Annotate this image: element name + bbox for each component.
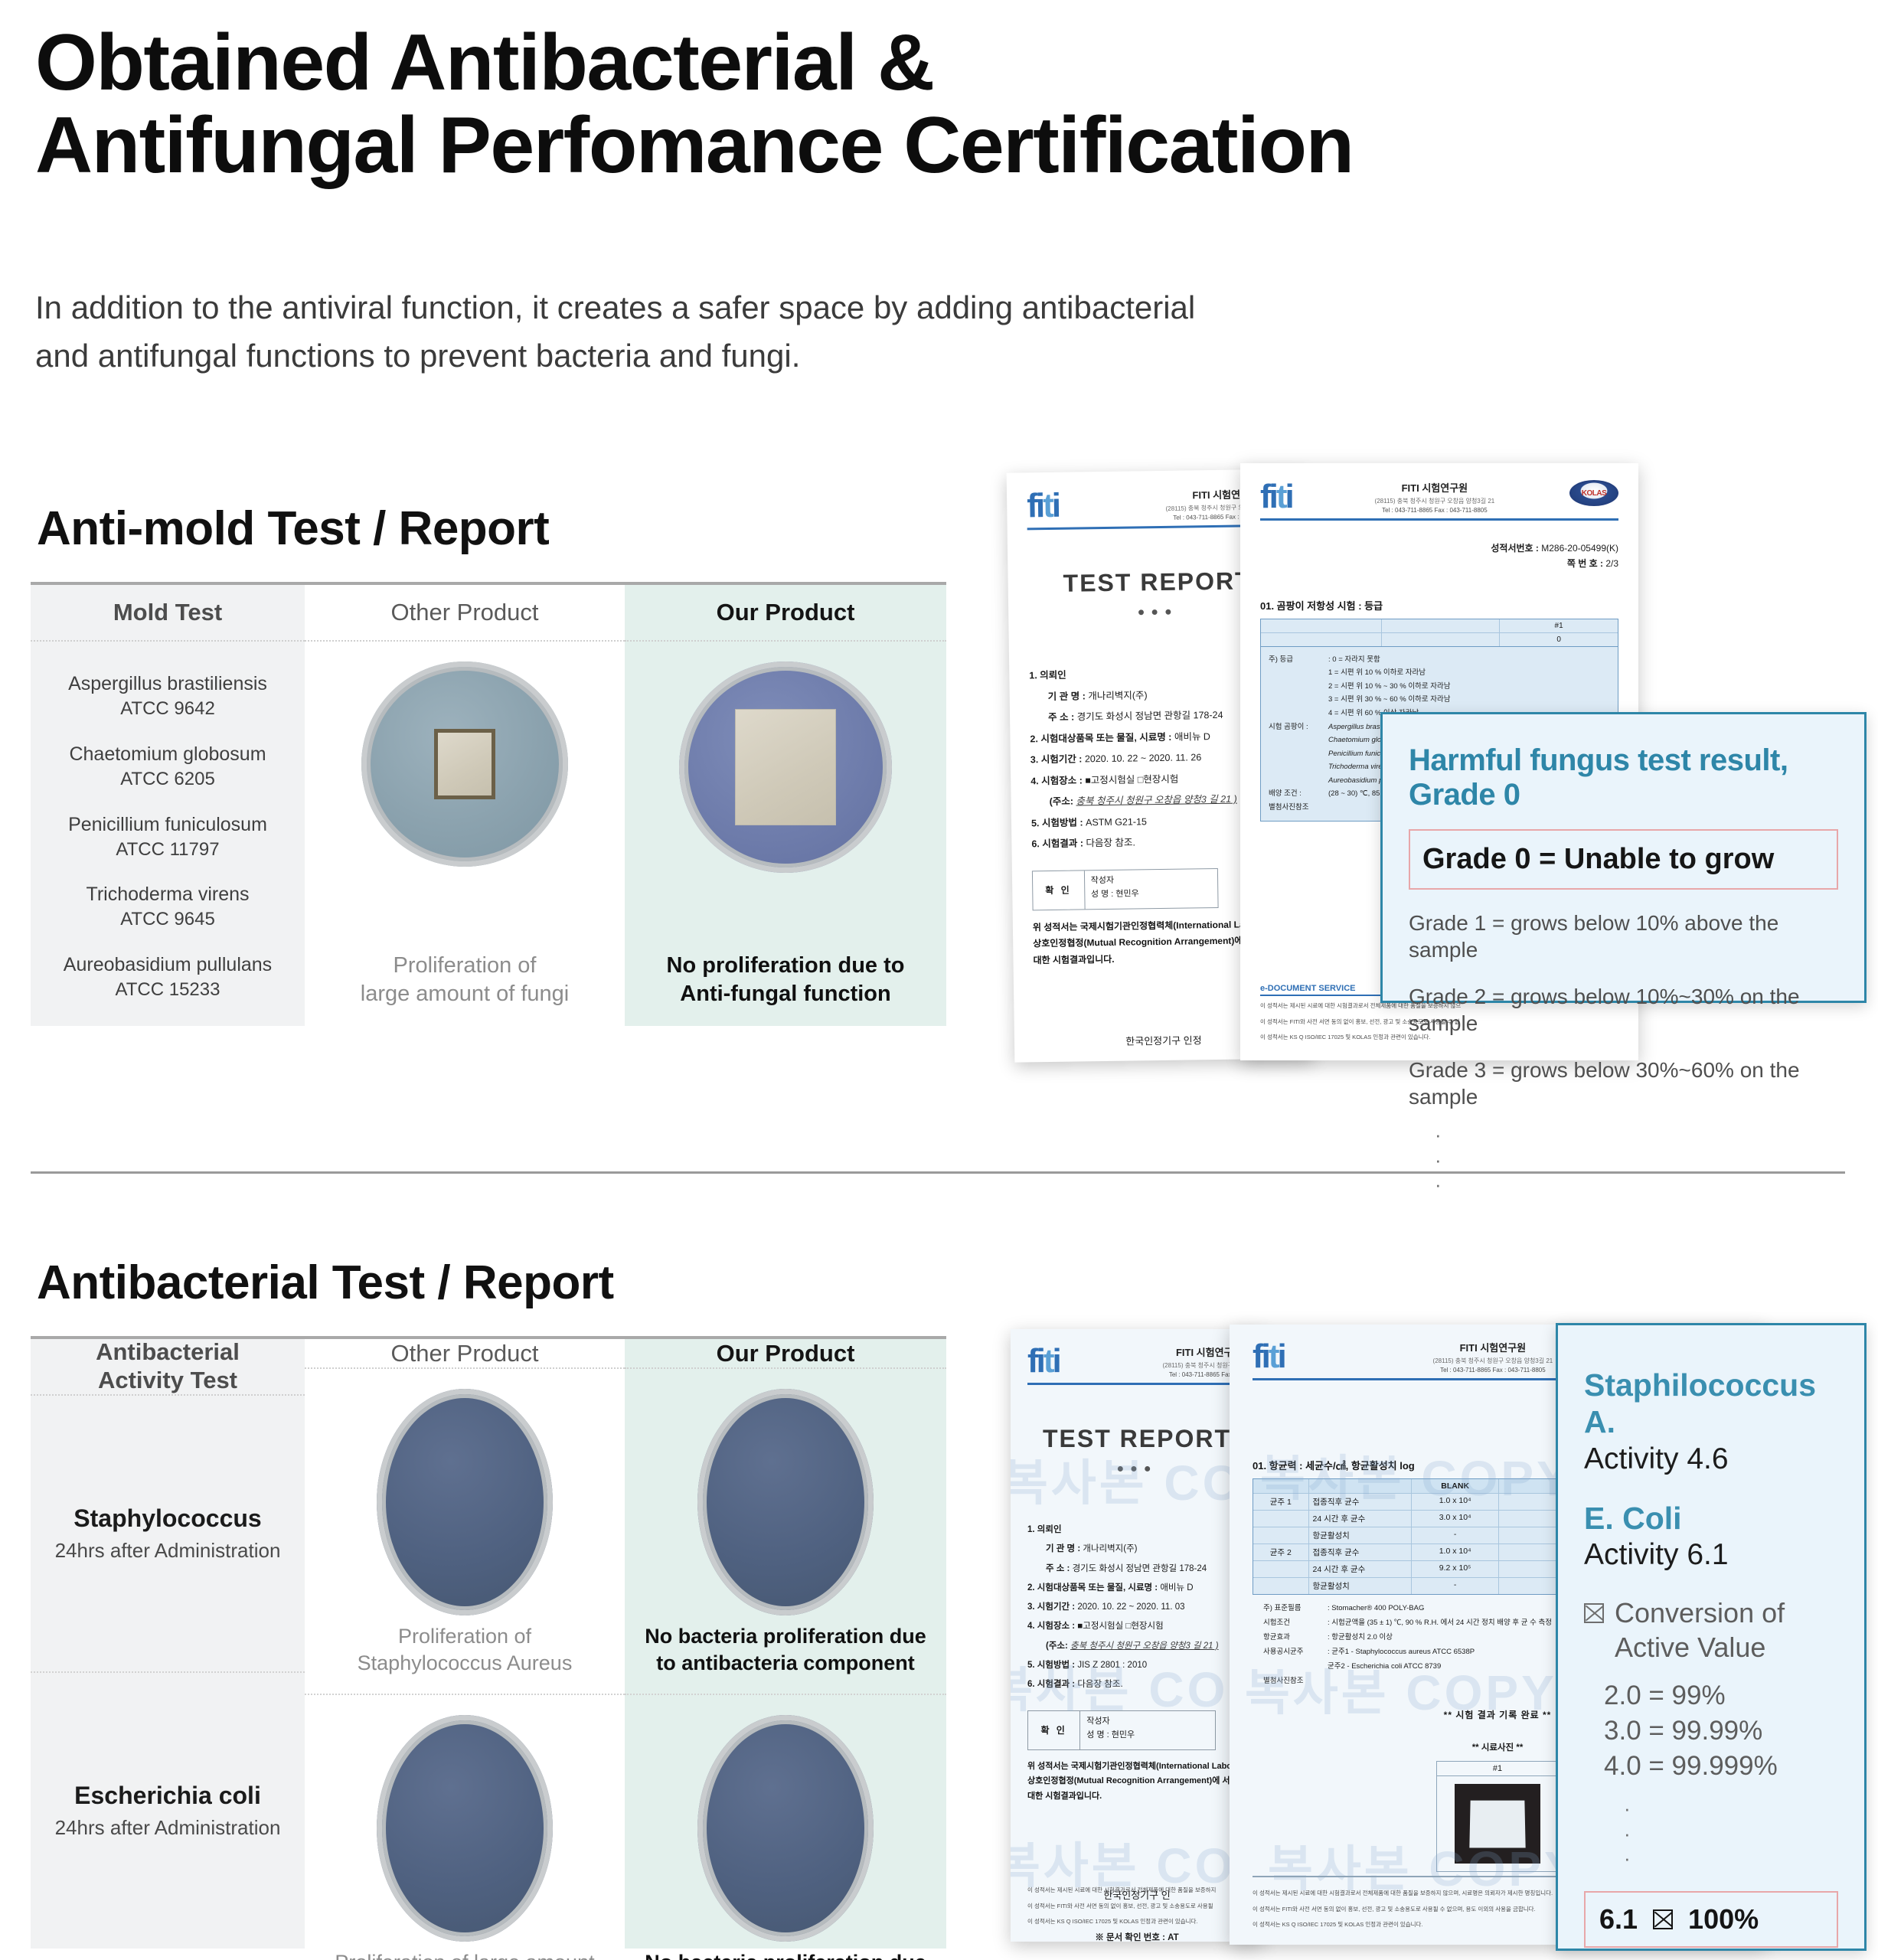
sample-photo-id: #1: [1437, 1762, 1558, 1776]
field-value: ■고정시험실 □현장시험: [1077, 1622, 1163, 1631]
serial-value: M286-20-05499(K): [1541, 543, 1618, 554]
bact-ours-ecoli-cell: No bacteria proliferation due to antibac…: [625, 1694, 946, 1960]
fiti-logo-icon: fiti: [1027, 1344, 1060, 1378]
bact-row-ecoli-label: Escherichia coli 24hrs after Administrat…: [31, 1671, 305, 1949]
bact-ours-staph-caption: No bacteria proliferation due to antibac…: [645, 1615, 926, 1677]
table-cell: 24 시간 후 균수: [1309, 1561, 1413, 1577]
sample-swatch: [434, 729, 495, 799]
species-atcc: ATCC 15233: [64, 978, 272, 1002]
bact-table-ours-column: Our Product No bacteria proliferation du…: [625, 1339, 946, 1949]
species-name: Chaetomium globosum: [69, 743, 266, 765]
crossed-box-icon: [1584, 1603, 1604, 1623]
certificate-header: fiti FITI 시험연구 (28115) 충북 청주시 청원구 오창 Tel…: [1027, 1344, 1246, 1378]
caption-line-2: Anti-fungal function: [667, 980, 905, 1009]
field-value: 다음장 참조.: [1086, 837, 1135, 848]
field-label: 5. 시험방법 :: [1027, 1661, 1075, 1670]
note-label: 항균효과: [1263, 1630, 1328, 1645]
table-cell: 접종직후 균수: [1309, 1494, 1413, 1510]
petri-dish-image-other-ecoli: [377, 1715, 553, 1942]
table-header-cell: [1309, 1479, 1413, 1493]
petri-dish-image-other-mold: [361, 661, 568, 867]
field-value: 개나리벽지(주): [1083, 1544, 1137, 1553]
grade-line: Grade 1 = grows below 10% above the samp…: [1409, 910, 1838, 963]
watermark-text: 복사본 COPY: [1011, 1444, 1263, 1514]
eds-line: 이 성적서는 FITI와 사전 서면 동의 없이 홍보, 선전, 광고 및 소송…: [1027, 1900, 1246, 1913]
table-cell: 접종직후 균수: [1309, 1544, 1413, 1560]
section-heading-anti-mold: Anti-mold Test / Report: [37, 501, 549, 556]
organism-name: Escherichia coli: [74, 1782, 261, 1810]
table-cell: [1261, 619, 1382, 632]
petri-dish-image-other-staph: [377, 1389, 553, 1615]
table-cell: [1382, 619, 1500, 632]
note-value: : 항균활성치 2.0 이상: [1328, 1633, 1393, 1641]
field-value: 경기도 화성시 정남면 관항길 178-24: [1077, 710, 1223, 723]
ellipsis-dot: ·: [1624, 1796, 1838, 1821]
mold-comparison-table: Mold Test Aspergillus brastiliensis ATCC…: [31, 582, 946, 1026]
sample-photo-frame: #1: [1436, 1761, 1559, 1872]
note-line: 1 = 시편 위 10 % 이하로 자라남: [1328, 668, 1426, 677]
table-cell: [1253, 1578, 1309, 1594]
lab-address: (28115) 충북 청주시 청원구 오창읍 양청3길 21: [1433, 1357, 1553, 1365]
species-name: Penicillium funiculosum: [68, 814, 267, 835]
table-cell: 균주 2: [1253, 1544, 1309, 1560]
certificate-serial-block: 성적서번호 : M286-20-05499(K) 쪽 번 호 : 2/3: [1260, 541, 1618, 572]
signature-name: 성 명 : 현민우: [1091, 886, 1212, 902]
page-subtitle: In addition to the antiviral function, i…: [35, 283, 1566, 380]
conversion-value: 4.0 = 99.999%: [1604, 1749, 1838, 1784]
table-cell: [1253, 1527, 1309, 1543]
eds-line: 이 성적서는 제시된 시료에 대한 시험결과로서 전체제품에 대한 품질을 보증…: [1027, 1884, 1246, 1896]
signature-label: 확 인: [1028, 1711, 1080, 1749]
e-document-service-block: 이 성적서는 제시된 시료에 대한 시험결과로서 전체제품에 대한 품질을 보증…: [1027, 1880, 1246, 1928]
field-label: 6. 시험결과 :: [1027, 1680, 1075, 1689]
signature-role: 작성자: [1091, 872, 1212, 888]
field-label: 4. 시험장소 :: [1027, 1622, 1075, 1631]
mold-other-caption: Proliferation of large amount of fungi: [361, 944, 569, 1009]
poster-page: Obtained Antibacterial & Antifungal Perf…: [0, 0, 1878, 1960]
result-percentage: 100%: [1688, 1903, 1759, 1935]
caption-line-2: Staphylococcus Aureus: [358, 1650, 573, 1677]
field-label: 4. 시험장소 :: [1030, 775, 1083, 786]
field-label: 기 관 명 :: [1048, 691, 1086, 702]
species-atcc: ATCC 9642: [68, 697, 267, 721]
table-cell: 24 시간 후 균수: [1309, 1511, 1413, 1527]
dish-rim: [697, 1389, 874, 1615]
note-line: 별첨사진참조: [1269, 803, 1308, 812]
ellipsis-dot: ·: [1435, 1122, 1838, 1148]
note-label: 배양 조건 :: [1269, 787, 1328, 801]
mold-table-ours-column: Our Product No proliferation due to Anti…: [625, 585, 946, 1026]
field-label: (주소:: [1046, 1641, 1068, 1651]
table-cell: 1.0 x 10⁴: [1412, 1544, 1499, 1560]
grade-line: Grade 2 = grows below 10%~30% on the sam…: [1409, 983, 1838, 1037]
field-label: 2. 시험대상품목 또는 물질, 시료명 :: [1030, 731, 1171, 744]
caption-line-1: Proliferation of: [361, 952, 569, 981]
document-verify-number: ※ 문서 확인 번호 : AT: [1027, 1929, 1246, 1942]
page-subtitle-line1: In addition to the antiviral function, i…: [35, 283, 1566, 332]
title-dots-decoration: ●●●: [1027, 1462, 1246, 1476]
dish-rim: [377, 1715, 553, 1942]
lab-address: (28115) 충북 청주시 청원구 오창읍 양청3길 21: [1375, 497, 1495, 505]
field-value: ■고정시험실 □현장시험: [1085, 773, 1178, 786]
bact-certificate-page-1: 복사본 COPY 복사본 COPY 복사본 COPY fiti FITI 시험연…: [1011, 1329, 1263, 1942]
table-cell: 9.2 x 10⁵: [1412, 1561, 1499, 1577]
result-highlight-box: 6.1 100%: [1584, 1891, 1838, 1948]
conversion-value: 2.0 = 99%: [1604, 1678, 1838, 1713]
table-cell: [1253, 1561, 1309, 1577]
eds-line: 이 성적서는 KS Q ISO/IEC 17025 및 KOLAS 인정과 관련…: [1027, 1916, 1246, 1928]
note-label: 별첨사진참조: [1263, 1674, 1328, 1688]
conversion-heading: Conversion of Active Value: [1584, 1596, 1838, 1664]
bact-other-ecoli-caption: Proliferation of large amount Escherichi…: [335, 1942, 594, 1960]
table-cell: [1382, 633, 1500, 646]
bact-table-other-column: Other Product Proliferation of Staphyloc…: [305, 1339, 625, 1949]
note-value: : 균주1 - Staphylococcus aureus ATCC 6538P: [1328, 1648, 1475, 1656]
lab-contact-block: FITI 시험연구원 (28115) 충북 청주시 청원구 오창읍 양청3길 2…: [1433, 1340, 1553, 1374]
field-label: 3. 시험기간 :: [1027, 1602, 1075, 1612]
dish-rim: [697, 1715, 874, 1942]
callout-organism-1: Staphilococcus A.: [1584, 1367, 1838, 1441]
lab-name: FITI 시험연구원: [1433, 1340, 1553, 1354]
field-label: 3. 시험기간 :: [1030, 753, 1083, 765]
species-name: Trichoderma virens: [86, 884, 249, 905]
mold-result-callout-panel: Harmful fungus test result, Grade 0 Grad…: [1380, 712, 1867, 1003]
page-title-line2: Antifungal Perfomance Certification: [35, 104, 1720, 187]
organism-subtext: 24hrs after Administration: [55, 1539, 281, 1563]
species-name: Aureobasidium pullulans: [64, 954, 272, 975]
table-header-cell: BLANK: [1412, 1479, 1499, 1493]
bact-table-label-column: Antibacterial Activity Test Staphylococc…: [31, 1339, 305, 1949]
callout-organism-2: E. Coli: [1584, 1500, 1838, 1537]
mold-table-other-column: Other Product Proliferation of large amo…: [305, 585, 625, 1026]
bact-table-header-ours: Our Product: [625, 1339, 946, 1369]
certificate-fields: 1. 의뢰인 기 관 명 : 개나리벽지(주) 주 소 : 경기도 화성시 정남…: [1027, 1521, 1246, 1695]
result-section-title: 01. 곰팡이 저항성 시험 : 등급: [1260, 598, 1618, 612]
table-row: 0: [1261, 633, 1618, 646]
grade-result-table: #1 0: [1260, 619, 1618, 647]
header-line-2: Activity Test: [96, 1367, 240, 1395]
section-heading-antibacterial: Antibacterial Test / Report: [37, 1256, 614, 1310]
table-header-cell: [1253, 1479, 1309, 1493]
table-cell: 항균활성치: [1309, 1578, 1413, 1594]
organism-name: Staphylococcus: [73, 1504, 261, 1533]
kolas-seal-icon: KOLAS: [1569, 480, 1618, 506]
organism-subtext: 24hrs after Administration: [55, 1816, 281, 1840]
signature-box: 확 인 작성자 성 명 : 현민우: [1032, 867, 1219, 910]
conversion-values: 2.0 = 99% 3.0 = 99.99% 4.0 = 99.999%: [1584, 1678, 1838, 1785]
header-rule: [1027, 1383, 1246, 1385]
page-title: Obtained Antibacterial & Antifungal Perf…: [35, 21, 1720, 187]
legal-line: 상호인정협정(Mutual Recognition Arrangement)에 …: [1027, 1774, 1246, 1789]
certificate-legal-text: 위 성적서는 국제시험기관인정협력체(International Labor 상…: [1027, 1759, 1246, 1805]
page-subtitle-line2: and antifungal functions to prevent bact…: [35, 332, 1566, 380]
field-value: 다음장 참조.: [1077, 1680, 1122, 1689]
field-label: 기 관 명 :: [1046, 1544, 1080, 1553]
page-title-line1: Obtained Antibacterial &: [35, 21, 1720, 104]
list-item: Chaetomium globosum ATCC 6205: [69, 742, 266, 792]
field-value: 충북 청주시 청원구 오창읍 양청3 길 21 ): [1070, 1641, 1219, 1651]
conversion-line-2: Active Value: [1615, 1630, 1785, 1664]
certificate-header: fiti FITI 시험연구원 (28115) 충북 청주시 청원구 오창읍 양…: [1260, 480, 1618, 514]
field-label: 5. 시험방법 :: [1031, 817, 1083, 828]
bact-other-ecoli-cell: Proliferation of large amount Escherichi…: [305, 1694, 625, 1960]
field-label: 1. 의뢰인: [1029, 670, 1066, 681]
conversion-value: 3.0 = 99.99%: [1604, 1713, 1838, 1749]
bact-ours-ecoli-caption: No bacteria proliferation due to antibac…: [645, 1942, 926, 1960]
signature-role: 작성자: [1086, 1714, 1209, 1729]
table-cell: 0: [1500, 633, 1618, 646]
field-label: 주 소 :: [1048, 712, 1074, 723]
field-value: JIS Z 2801 : 2010: [1077, 1661, 1147, 1670]
serial-label: 성적서번호 :: [1491, 543, 1539, 554]
result-activity-value: 6.1: [1599, 1903, 1638, 1935]
lab-contact: Tel : 043-711-8865 Fax : 043-711-8805: [1433, 1367, 1553, 1374]
fiti-logo-icon: fiti: [1027, 489, 1059, 524]
field-label: 6. 시험결과 :: [1031, 838, 1083, 849]
bact-table-header-label: Antibacterial Activity Test: [31, 1339, 305, 1396]
callout-activity-1: Activity 4.6: [1584, 1441, 1838, 1478]
species-atcc: ATCC 9645: [86, 907, 249, 932]
header-line-1: Antibacterial: [96, 1338, 240, 1367]
bact-row-staph-label: Staphylococcus 24hrs after Administratio…: [31, 1396, 305, 1671]
petri-dish-image-ours-ecoli: [697, 1715, 874, 1942]
table-cell: 1.0 x 10⁴: [1412, 1494, 1499, 1510]
table-cell: #1: [1500, 619, 1618, 632]
sample-photo-image: [1455, 1784, 1540, 1864]
note-label: 주) 표준필름: [1263, 1601, 1328, 1615]
field-value: 개나리벽지(주): [1088, 690, 1148, 701]
caption-line-2: to antibacteria component: [645, 1650, 926, 1677]
signature-name: 성 명 : 현민우: [1086, 1728, 1209, 1743]
grade-line: Grade 3 = grows below 30%~60% on the sam…: [1409, 1057, 1838, 1110]
sample-swatch: [735, 709, 836, 825]
page-value: 2/3: [1605, 558, 1618, 569]
bact-table-header-other: Other Product: [305, 1339, 625, 1369]
ellipsis-marker: · · ·: [1435, 1122, 1838, 1197]
signature-box: 확 인 작성자 성 명 : 현민우: [1027, 1710, 1216, 1750]
bact-other-staph-caption: Proliferation of Staphylococcus Aureus: [358, 1615, 573, 1677]
signature-label: 확 인: [1033, 871, 1085, 910]
antibacterial-comparison-table: Antibacterial Activity Test Staphylococc…: [31, 1336, 946, 1949]
table-row: #1: [1261, 619, 1618, 633]
fiti-logo-icon: fiti: [1253, 1340, 1285, 1374]
page-label: 쪽 번 호 :: [1567, 558, 1603, 569]
species-atcc: ATCC 6205: [69, 767, 266, 792]
field-value: ASTM G21-15: [1086, 816, 1147, 828]
mold-table-header-label: Mold Test: [31, 585, 305, 642]
ellipsis-dot: ·: [1435, 1148, 1838, 1173]
note-line: 3 = 시편 위 30 % ~ 60 % 이하로 자라남: [1328, 695, 1450, 704]
mold-table-header-other: Other Product: [305, 585, 625, 642]
certificate-title: TEST REPORT: [1027, 1425, 1246, 1453]
mold-ours-caption: No proliferation due to Anti-fungal func…: [667, 944, 905, 1009]
species-atcc: ATCC 11797: [68, 838, 267, 862]
table-cell: -: [1412, 1578, 1499, 1594]
ellipsis-dot: ·: [1435, 1172, 1838, 1197]
dish-rim: [377, 1389, 553, 1615]
list-item: Trichoderma virens ATCC 9645: [86, 882, 249, 932]
field-label: 주 소 :: [1046, 1564, 1070, 1573]
note-value: 균주2 - Escherichia coli ATCC 8739: [1328, 1662, 1441, 1671]
species-name: Aspergillus brastiliensis: [68, 673, 267, 694]
mold-table-header-ours: Our Product: [625, 585, 946, 642]
field-label: 1. 의뢰인: [1027, 1525, 1062, 1534]
mold-species-list: Aspergillus brastiliensis ATCC 9642 Chae…: [31, 642, 305, 1026]
field-value: 애비뉴 D: [1160, 1583, 1193, 1592]
field-value: 2020. 10. 22 ~ 2020. 11. 03: [1077, 1602, 1184, 1612]
table-cell: 3.0 x 10⁴: [1412, 1511, 1499, 1527]
caption-line-1: No bacteria proliferation due: [645, 1623, 926, 1650]
note-line: : 0 = 자라지 못함: [1328, 655, 1380, 664]
field-label: 2. 시험대상품목 또는 물질, 시료명 :: [1027, 1583, 1158, 1592]
field-value: 애비뉴 D: [1174, 731, 1210, 743]
callout-activity-2: Activity 6.1: [1584, 1537, 1838, 1574]
petri-dish-image-ours-staph: [697, 1389, 874, 1615]
section-divider: [31, 1171, 1845, 1174]
note-label: 주) 등급: [1269, 653, 1328, 667]
note-value: : 시험균액을 (35 ± 1) ℃, 90 % R.H. 에서 24 시간 정…: [1328, 1619, 1552, 1627]
ellipsis-dot: ·: [1624, 1846, 1838, 1871]
grade-highlight-box: Grade 0 = Unable to grow: [1409, 829, 1838, 890]
mold-ours-cell: No proliferation due to Anti-fungal func…: [625, 642, 946, 1026]
legal-line: 대한 시험결과입니다.: [1027, 1789, 1246, 1805]
lab-contact: Tel : 043-711-8865 Fax : 043-711-8805: [1375, 507, 1495, 514]
ellipsis-marker: · · ·: [1624, 1796, 1838, 1871]
header-rule: [1260, 518, 1618, 521]
petri-dish-image-ours-mold: [679, 661, 892, 873]
table-cell: 균주 1: [1253, 1494, 1309, 1510]
note-line: 2 = 시편 위 10 % ~ 30 % 이하로 자라남: [1328, 682, 1450, 691]
field-value: 경기도 화성시 정남면 관항길 178-24: [1073, 1564, 1207, 1573]
caption-line-1: No proliferation due to: [667, 952, 905, 981]
note-label: 사용공시균주: [1263, 1645, 1328, 1659]
ellipsis-dot: ·: [1624, 1821, 1838, 1847]
table-cell: -: [1412, 1527, 1499, 1543]
note-label: 시험 곰팡이 :: [1269, 720, 1328, 734]
conversion-line-1: Conversion of: [1615, 1596, 1785, 1630]
antibacterial-result-callout-panel: Staphilococcus A. Activity 4.6 E. Coli A…: [1556, 1323, 1867, 1951]
list-item: Penicillium funiculosum ATCC 11797: [68, 812, 267, 862]
lab-name: FITI 시험연구원: [1375, 480, 1495, 495]
mold-table-label-column: Mold Test Aspergillus brastiliensis ATCC…: [31, 585, 305, 1026]
caption-line-1: No bacteria proliferation due: [645, 1949, 926, 1960]
field-value: 충북 청주시 청원구 오창읍 양청3 길 21 ): [1076, 794, 1237, 807]
table-cell: [1261, 633, 1382, 646]
note-label: 시험조건: [1263, 1615, 1328, 1630]
caption-line-1: Proliferation of large amount: [335, 1949, 594, 1960]
caption-line-1: Proliferation of: [358, 1623, 573, 1650]
legal-line: 위 성적서는 국제시험기관인정협력체(International Labor: [1027, 1759, 1246, 1775]
bact-ours-staph-cell: No bacteria proliferation due to antibac…: [625, 1369, 946, 1694]
bact-other-staph-cell: Proliferation of Staphylococcus Aureus: [305, 1369, 625, 1694]
caption-line-2: large amount of fungi: [361, 980, 569, 1009]
field-label: (주소:: [1050, 796, 1074, 807]
note-value: : Stomacher® 400 POLY-BAG: [1328, 1604, 1424, 1612]
lab-contact-block: FITI 시험연구원 (28115) 충북 청주시 청원구 오창읍 양청3길 2…: [1375, 480, 1495, 514]
callout-title: Harmful fungus test result, Grade 0: [1409, 743, 1838, 812]
list-item: Aureobasidium pullulans ATCC 15233: [64, 952, 272, 1002]
crossed-box-icon: [1653, 1909, 1673, 1929]
list-item: Aspergillus brastiliensis ATCC 9642: [68, 671, 267, 721]
table-cell: 항균활성치: [1309, 1527, 1413, 1543]
fiti-logo-icon: fiti: [1260, 480, 1292, 514]
mold-other-cell: Proliferation of large amount of fungi: [305, 642, 625, 1026]
field-value: 2020. 10. 22 ~ 2020. 11. 26: [1085, 752, 1202, 764]
table-cell: [1253, 1511, 1309, 1527]
